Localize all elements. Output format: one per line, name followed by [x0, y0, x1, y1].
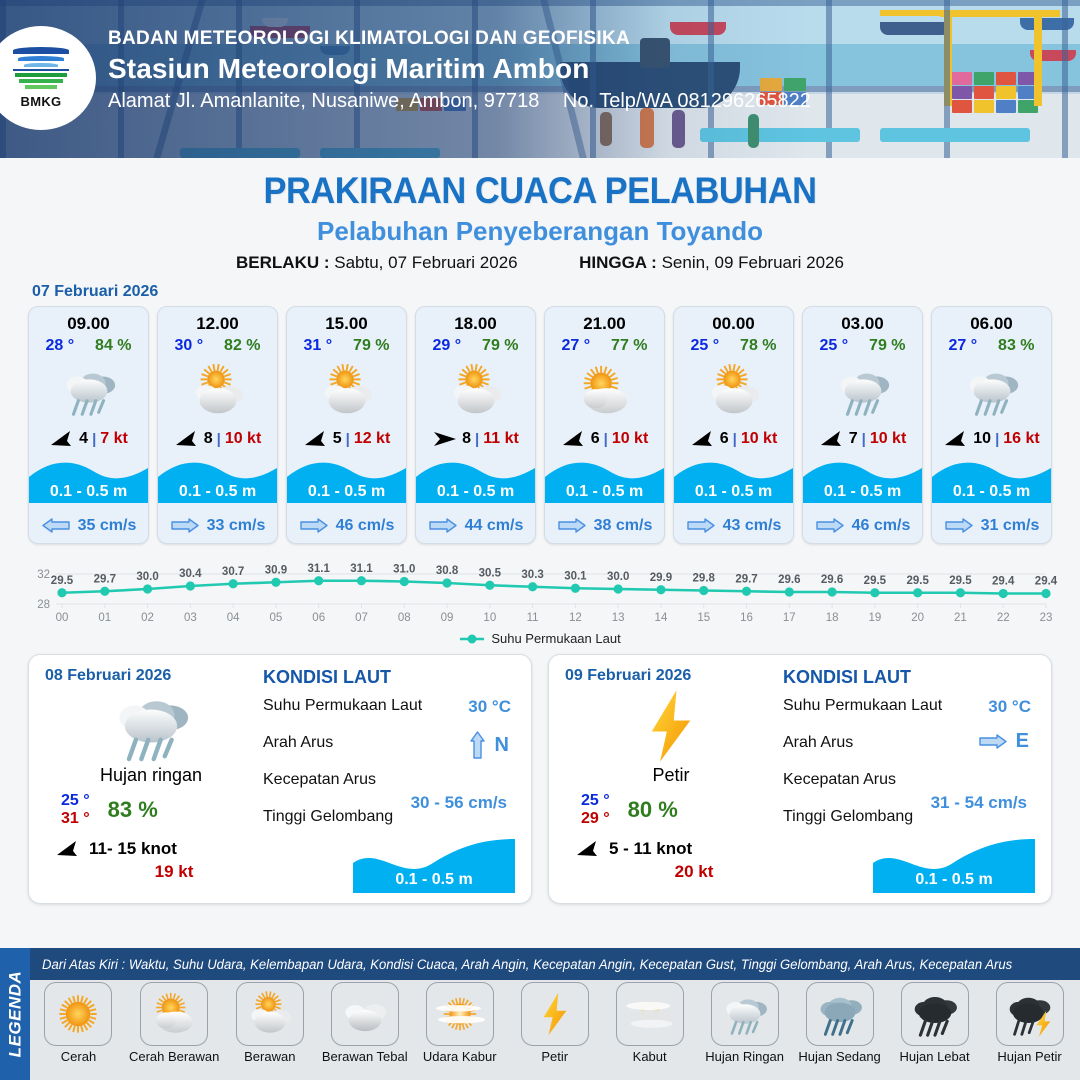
- card-weather-icon: [158, 355, 277, 427]
- rain-light-icon: [832, 360, 894, 422]
- card-current-speed: 33 cm/s: [207, 517, 266, 535]
- card-time: 06.00: [932, 307, 1051, 334]
- svg-text:29.5: 29.5: [864, 575, 887, 587]
- legend-icon-box: [806, 982, 874, 1046]
- hourly-date: 07 Februari 2026: [32, 283, 1080, 301]
- sst-value: 30 °C: [988, 697, 1031, 717]
- daily-gust: 19 kt: [45, 862, 257, 882]
- station-phone: No. Telp/WA 081296265822: [563, 90, 811, 112]
- sst-label: Suhu Permukaan Laut: [783, 697, 942, 714]
- sun-cloud-icon: [148, 988, 200, 1040]
- card-gust: 10 kt: [225, 430, 261, 448]
- card-wave-height: 0.1 - 0.5 m: [932, 483, 1051, 501]
- svg-text:30.9: 30.9: [265, 564, 287, 576]
- legend-item: Udara Kabur: [415, 982, 504, 1080]
- svg-text:30.3: 30.3: [521, 569, 543, 581]
- svg-text:17: 17: [783, 612, 796, 624]
- card-wind: 8 | 10 kt: [158, 427, 277, 455]
- current-direction-icon: [428, 516, 458, 535]
- chart-legend-label: Suhu Permukaan Laut: [491, 631, 620, 646]
- daily-wave-height: 0.1 - 0.5 m: [873, 871, 1035, 889]
- thunder-icon: [627, 682, 715, 770]
- page-title: PRAKIRAAN CUACA PELABUHAN: [38, 170, 1042, 212]
- daily-panel: 09 Februari 2026 Petir 25 ° 29 ° 80 % 5 …: [548, 654, 1052, 904]
- svg-text:29.7: 29.7: [735, 573, 757, 585]
- wind-direction-icon: [819, 429, 845, 449]
- svg-text:30.4: 30.4: [179, 568, 202, 580]
- svg-text:30.8: 30.8: [436, 565, 459, 577]
- svg-text:00: 00: [56, 612, 69, 624]
- card-wind-separator: |: [475, 431, 479, 448]
- legend-item-label: Hujan Petir: [997, 1049, 1061, 1064]
- sst-row: Suhu Permukaan Laut 30 °C: [263, 697, 515, 734]
- svg-text:22: 22: [997, 612, 1010, 624]
- daily-wind: 5 - 11 knot: [565, 839, 777, 859]
- card-wind-separator: |: [604, 431, 608, 448]
- card-wave: 0.1 - 0.5 m: [158, 455, 277, 511]
- rain-light-icon: [107, 682, 195, 770]
- card-temperature: 28 °: [45, 337, 74, 355]
- card-current-speed: 35 cm/s: [78, 517, 137, 535]
- svg-text:09: 09: [441, 612, 454, 624]
- daily-condition: Petir: [565, 765, 777, 786]
- haze-icon: [434, 988, 486, 1040]
- svg-text:20: 20: [911, 612, 924, 624]
- legend-item-label: Hujan Lebat: [900, 1049, 970, 1064]
- daily-temp-min: 25 °: [61, 792, 90, 810]
- current-direction-icon: [557, 516, 587, 535]
- card-wave-height: 0.1 - 0.5 m: [287, 483, 406, 501]
- daily-weather-icon: [45, 683, 257, 769]
- wind-direction-icon: [561, 429, 587, 449]
- svg-text:29.6: 29.6: [821, 574, 843, 586]
- card-weather-icon: [803, 355, 922, 427]
- card-humidity: 84 %: [95, 337, 131, 355]
- daily-wind-speed: 5 - 11 knot: [609, 839, 692, 859]
- svg-text:08: 08: [398, 612, 411, 624]
- card-humidity: 79 %: [869, 337, 905, 355]
- card-wind-degree: 5: [333, 430, 342, 448]
- card-wind-degree: 6: [591, 430, 600, 448]
- daily-temp-min: 25 °: [581, 792, 610, 810]
- svg-text:30.5: 30.5: [479, 567, 502, 579]
- current-direction-value: E: [1016, 730, 1029, 753]
- current-direction-row: Arah Arus N: [263, 734, 515, 771]
- card-weather-icon: [674, 355, 793, 427]
- legend-item-label: Petir: [541, 1049, 568, 1064]
- svg-text:29.8: 29.8: [693, 573, 716, 585]
- legend-icon-box: [140, 982, 208, 1046]
- partly-cloudy-icon: [703, 360, 765, 422]
- legend-items: Cerah Cerah Berawan Berawan Berawan Teba…: [34, 982, 1074, 1080]
- legend-icon-box: [711, 982, 779, 1046]
- rain-heavy-icon: [909, 988, 961, 1040]
- sst-row: Suhu Permukaan Laut 30 °C: [783, 697, 1035, 734]
- card-temperature: 25 °: [819, 337, 848, 355]
- wind-direction-icon: [943, 429, 969, 449]
- card-wind: 4 | 7 kt: [29, 427, 148, 455]
- svg-text:28: 28: [37, 599, 50, 611]
- current-speed-row: Kecepatan Arus 30 - 56 cm/s: [263, 771, 515, 808]
- partly-cloudy-icon: [445, 360, 507, 422]
- legend-icon-box: [236, 982, 304, 1046]
- svg-text:11: 11: [527, 612, 539, 624]
- wind-direction-icon: [55, 839, 81, 859]
- card-wind: 7 | 10 kt: [803, 427, 922, 455]
- sst-chart: 2832000102030405060708091011121314151617…: [14, 552, 1066, 630]
- card-current: 44 cm/s: [416, 511, 535, 543]
- card-wind: 6 | 10 kt: [674, 427, 793, 455]
- svg-text:07: 07: [355, 612, 368, 624]
- legend-item: Hujan Ringan: [700, 982, 789, 1080]
- rain-thunder-icon: [1004, 988, 1056, 1040]
- legend-item: Cerah: [34, 982, 123, 1080]
- svg-text:16: 16: [740, 612, 753, 624]
- sst-label: Suhu Permukaan Laut: [263, 697, 422, 714]
- card-current-speed: 31 cm/s: [981, 517, 1040, 535]
- legend-icon-box: [616, 982, 684, 1046]
- daily-humidity: 80 %: [628, 797, 678, 823]
- card-wave-height: 0.1 - 0.5 m: [674, 483, 793, 501]
- current-speed-label: Kecepatan Arus: [783, 771, 896, 788]
- card-humidity: 78 %: [740, 337, 776, 355]
- sst-value: 30 °C: [468, 697, 511, 717]
- card-wave-height: 0.1 - 0.5 m: [803, 483, 922, 501]
- legend-item: Berawan: [225, 982, 314, 1080]
- svg-text:23: 23: [1040, 612, 1053, 624]
- legend-item-label: Hujan Sedang: [798, 1049, 880, 1064]
- svg-text:19: 19: [868, 612, 881, 624]
- card-wind-separator: |: [733, 431, 737, 448]
- svg-text:21: 21: [954, 612, 967, 624]
- valid-from-label: BERLAKU :: [236, 253, 330, 272]
- card-current-speed: 43 cm/s: [723, 517, 782, 535]
- card-wind-separator: |: [346, 431, 350, 448]
- card-time: 15.00: [287, 307, 406, 334]
- card-current: 38 cm/s: [545, 511, 664, 543]
- current-speed-row: Kecepatan Arus 31 - 54 cm/s: [783, 771, 1035, 808]
- svg-text:06: 06: [312, 612, 325, 624]
- wind-direction-icon: [303, 429, 329, 449]
- daily-panel: 08 Februari 2026 Hujan ringan 25 ° 31 ° …: [28, 654, 532, 904]
- legend-item: Petir: [510, 982, 599, 1080]
- card-current: 31 cm/s: [932, 511, 1051, 543]
- legend-item: Hujan Petir: [985, 982, 1074, 1080]
- valid-to-value: Senin, 09 Februari 2026: [662, 253, 844, 272]
- card-temperature: 30 °: [174, 337, 203, 355]
- card-humidity: 82 %: [224, 337, 260, 355]
- card-wave: 0.1 - 0.5 m: [545, 455, 664, 511]
- svg-text:31.1: 31.1: [308, 563, 331, 575]
- legend-note: Dari Atas Kiri : Waktu, Suhu Udara, Kele…: [30, 948, 1080, 980]
- chart-legend-marker-icon: [459, 633, 485, 645]
- card-time: 03.00: [803, 307, 922, 334]
- current-speed-label: Kecepatan Arus: [263, 771, 376, 788]
- svg-text:31.1: 31.1: [350, 563, 373, 575]
- svg-text:02: 02: [141, 612, 154, 624]
- hourly-card: 09.00 28 ° 84 % 4 | 7 kt 0.1 - 0.5 m: [28, 306, 149, 544]
- partly-cloudy-icon: [244, 988, 296, 1040]
- card-wave-height: 0.1 - 0.5 m: [29, 483, 148, 501]
- partly-cloudy-icon: [187, 360, 249, 422]
- card-time: 18.00: [416, 307, 535, 334]
- card-gust: 12 kt: [354, 430, 390, 448]
- card-wind-separator: |: [995, 431, 999, 448]
- card-weather-icon: [416, 355, 535, 427]
- svg-text:29.5: 29.5: [906, 575, 929, 587]
- svg-text:10: 10: [483, 612, 496, 624]
- legend-item-label: Cerah Berawan: [129, 1049, 219, 1064]
- legend-item: Hujan Sedang: [795, 982, 884, 1080]
- agency-name: BADAN METEOROLOGI KLIMATOLOGI DAN GEOFIS…: [108, 28, 811, 50]
- svg-text:31.0: 31.0: [393, 564, 415, 576]
- legend-icon-box: [996, 982, 1064, 1046]
- svg-text:01: 01: [98, 612, 111, 624]
- svg-text:03: 03: [184, 612, 197, 624]
- card-humidity: 83 %: [998, 337, 1034, 355]
- card-wind: 8 | 11 kt: [416, 427, 535, 455]
- hourly-forecast-row: 09.00 28 ° 84 % 4 | 7 kt 0.1 - 0.5 m: [0, 306, 1080, 544]
- legend-icon-box: [44, 982, 112, 1046]
- legend-section: LEGENDA Dari Atas Kiri : Waktu, Suhu Uda…: [0, 948, 1080, 1080]
- current-direction-label: Arah Arus: [783, 734, 853, 751]
- card-weather-icon: [932, 355, 1051, 427]
- card-wind-degree: 7: [849, 430, 858, 448]
- svg-text:32: 32: [37, 569, 50, 581]
- card-humidity: 77 %: [611, 337, 647, 355]
- legend-icon-box: [426, 982, 494, 1046]
- svg-text:29.9: 29.9: [650, 572, 672, 584]
- card-wind-degree: 6: [720, 430, 729, 448]
- legend-item-label: Udara Kabur: [423, 1049, 497, 1064]
- svg-text:30.0: 30.0: [607, 571, 629, 583]
- card-gust: 10 kt: [870, 430, 906, 448]
- daily-wave-graphic: 0.1 - 0.5 m: [873, 837, 1035, 897]
- current-direction-row: Arah Arus E: [783, 734, 1035, 771]
- daily-gust: 20 kt: [565, 862, 777, 882]
- hourly-card: 18.00 29 ° 79 % 8 | 11 kt 0.1 - 0.5 m: [415, 306, 536, 544]
- current-direction-value: N: [495, 734, 509, 757]
- rain-light-icon: [58, 360, 120, 422]
- legend-item-label: Cerah: [61, 1049, 96, 1064]
- card-humidity: 79 %: [482, 337, 518, 355]
- current-direction-icon: [815, 516, 845, 535]
- svg-text:05: 05: [270, 612, 283, 624]
- card-wave-height: 0.1 - 0.5 m: [416, 483, 535, 501]
- hourly-card: 21.00 27 ° 77 % 6 | 10 kt 0.1 - 0.5 m: [544, 306, 665, 544]
- daily-wind: 11- 15 knot: [45, 839, 257, 859]
- daily-wind-speed: 11- 15 knot: [89, 839, 177, 859]
- title-block: PRAKIRAAN CUACA PELABUHAN Pelabuhan Peny…: [0, 158, 1080, 273]
- card-wave-height: 0.1 - 0.5 m: [545, 483, 664, 501]
- svg-text:14: 14: [655, 612, 668, 624]
- card-wind-degree: 8: [462, 430, 471, 448]
- chart-legend: Suhu Permukaan Laut: [0, 631, 1080, 646]
- daily-temp-max: 31 °: [61, 810, 90, 828]
- partly-cloudy-icon: [316, 360, 378, 422]
- current-direction-icon: [299, 516, 329, 535]
- valid-to-label: HINGGA :: [579, 253, 657, 272]
- legend-icon-box: [901, 982, 969, 1046]
- legend-item: Hujan Lebat: [890, 982, 979, 1080]
- hourly-card: 00.00 25 ° 78 % 6 | 10 kt 0.1 - 0.5 m: [673, 306, 794, 544]
- card-gust: 10 kt: [741, 430, 777, 448]
- station-name: Stasiun Meteorologi Maritim Ambon: [108, 53, 811, 85]
- card-temperature: 29 °: [432, 337, 461, 355]
- daily-weather-icon: [565, 683, 777, 769]
- svg-text:15: 15: [697, 612, 710, 624]
- hourly-card: 12.00 30 ° 82 % 8 | 10 kt 0.1 - 0.5 m: [157, 306, 278, 544]
- card-gust: 7 kt: [100, 430, 128, 448]
- card-wave: 0.1 - 0.5 m: [287, 455, 406, 511]
- card-current-speed: 38 cm/s: [594, 517, 653, 535]
- card-wave: 0.1 - 0.5 m: [803, 455, 922, 511]
- card-temperature: 27 °: [948, 337, 977, 355]
- card-current: 35 cm/s: [29, 511, 148, 543]
- legend-vertical-label: LEGENDA: [0, 948, 30, 1080]
- svg-text:18: 18: [826, 612, 839, 624]
- rain-moderate-icon: [814, 988, 866, 1040]
- current-direction-icon: [686, 516, 716, 535]
- wave-height-label: Tinggi Gelombang: [783, 808, 913, 825]
- current-direction-icon: [41, 516, 71, 535]
- card-wind-separator: |: [92, 431, 96, 448]
- card-time: 21.00: [545, 307, 664, 334]
- legend-item-label: Berawan Tebal: [322, 1049, 408, 1064]
- card-current-speed: 46 cm/s: [852, 517, 911, 535]
- rain-light-icon: [961, 360, 1023, 422]
- daily-wave-graphic: 0.1 - 0.5 m: [353, 837, 515, 897]
- daily-wave-height: 0.1 - 0.5 m: [353, 871, 515, 889]
- card-current-speed: 46 cm/s: [336, 517, 395, 535]
- current-direction-icon: [944, 516, 974, 535]
- daily-temp-max: 29 °: [581, 810, 610, 828]
- card-wind: 10 | 16 kt: [932, 427, 1051, 455]
- legend-icon-box: [521, 982, 589, 1046]
- card-wind-separator: |: [862, 431, 866, 448]
- legend-item: Cerah Berawan: [129, 982, 219, 1080]
- card-temperature: 25 °: [690, 337, 719, 355]
- station-address: Alamat Jl. Amanlanite, Nusaniwe, Ambon, …: [108, 90, 539, 112]
- wind-direction-icon: [690, 429, 716, 449]
- card-time: 12.00: [158, 307, 277, 334]
- svg-text:29.5: 29.5: [949, 575, 972, 587]
- card-wave: 0.1 - 0.5 m: [416, 455, 535, 511]
- wind-direction-icon: [575, 839, 601, 859]
- card-current: 46 cm/s: [287, 511, 406, 543]
- validity-range: BERLAKU : Sabtu, 07 Februari 2026 HINGGA…: [0, 253, 1080, 273]
- card-wind-separator: |: [217, 431, 221, 448]
- hourly-card: 03.00 25 ° 79 % 7 | 10 kt 0.1 - 0.5 m: [802, 306, 923, 544]
- daily-forecast-row: 08 Februari 2026 Hujan ringan 25 ° 31 ° …: [0, 646, 1080, 904]
- svg-text:29.5: 29.5: [51, 575, 74, 587]
- svg-text:12: 12: [569, 612, 582, 624]
- card-wind-degree: 10: [973, 430, 991, 448]
- bmkg-logo-text: BMKG: [21, 94, 62, 109]
- valid-from-value: Sabtu, 07 Februari 2026: [334, 253, 517, 272]
- wind-direction-icon: [174, 429, 200, 449]
- card-gust: 10 kt: [612, 430, 648, 448]
- svg-text:13: 13: [612, 612, 625, 624]
- current-direction-icon: [978, 732, 1008, 751]
- hourly-card: 15.00 31 ° 79 % 5 | 12 kt 0.1 - 0.5 m: [286, 306, 407, 544]
- legend-icon-box: [331, 982, 399, 1046]
- card-current: 46 cm/s: [803, 511, 922, 543]
- card-wind-degree: 8: [204, 430, 213, 448]
- card-humidity: 79 %: [353, 337, 389, 355]
- card-wave: 0.1 - 0.5 m: [29, 455, 148, 511]
- svg-text:29.4: 29.4: [1035, 576, 1058, 588]
- svg-text:30.1: 30.1: [564, 570, 587, 582]
- svg-text:29.6: 29.6: [778, 574, 800, 586]
- card-wave-height: 0.1 - 0.5 m: [158, 483, 277, 501]
- card-wind: 6 | 10 kt: [545, 427, 664, 455]
- svg-text:29.7: 29.7: [94, 573, 116, 585]
- card-wave: 0.1 - 0.5 m: [932, 455, 1051, 511]
- rain-light-icon: [719, 988, 771, 1040]
- card-current: 33 cm/s: [158, 511, 277, 543]
- fog-icon: [624, 988, 676, 1040]
- wave-height-label: Tinggi Gelombang: [263, 808, 393, 825]
- card-current: 43 cm/s: [674, 511, 793, 543]
- card-weather-icon: [29, 355, 148, 427]
- legend-item: Berawan Tebal: [320, 982, 409, 1080]
- current-direction-icon: [170, 516, 200, 535]
- legend-item-label: Hujan Ringan: [705, 1049, 784, 1064]
- card-wind: 5 | 12 kt: [287, 427, 406, 455]
- card-time: 09.00: [29, 307, 148, 334]
- sun-icon: [52, 988, 104, 1040]
- card-weather-icon: [545, 355, 664, 427]
- card-weather-icon: [287, 355, 406, 427]
- wind-direction-icon: [49, 429, 75, 449]
- current-direction-icon: [468, 730, 487, 760]
- svg-text:29.4: 29.4: [992, 576, 1015, 588]
- page-header: BMKG BADAN METEOROLOGI KLIMATOLOGI DAN G…: [0, 0, 1080, 158]
- card-time: 00.00: [674, 307, 793, 334]
- sun-cloud-icon: [574, 360, 636, 422]
- legend-item-label: Berawan: [244, 1049, 295, 1064]
- wind-direction-icon: [432, 429, 458, 449]
- svg-text:30.7: 30.7: [222, 566, 244, 578]
- hourly-card: 06.00 27 ° 83 % 10 | 16 kt 0.1 - 0.5 m: [931, 306, 1052, 544]
- daily-humidity: 83 %: [108, 797, 158, 823]
- card-temperature: 31 °: [303, 337, 332, 355]
- svg-text:30.0: 30.0: [136, 571, 158, 583]
- svg-text:04: 04: [227, 612, 240, 624]
- sea-condition-title: KONDISI LAUT: [783, 667, 1035, 688]
- page-subtitle: Pelabuhan Penyeberangan Toyando: [0, 216, 1080, 247]
- sea-condition-title: KONDISI LAUT: [263, 667, 515, 688]
- card-current-speed: 44 cm/s: [465, 517, 524, 535]
- cloudy-icon: [339, 988, 391, 1040]
- legend-item-label: Kabut: [633, 1049, 667, 1064]
- card-temperature: 27 °: [561, 337, 590, 355]
- current-direction-label: Arah Arus: [263, 734, 333, 751]
- card-wave: 0.1 - 0.5 m: [674, 455, 793, 511]
- card-gust: 16 kt: [1003, 430, 1039, 448]
- card-gust: 11 kt: [483, 430, 519, 448]
- bmkg-logo-mark: [13, 47, 69, 91]
- thunder-icon: [529, 988, 581, 1040]
- daily-condition: Hujan ringan: [45, 765, 257, 786]
- legend-item: Kabut: [605, 982, 694, 1080]
- card-wind-degree: 4: [79, 430, 88, 448]
